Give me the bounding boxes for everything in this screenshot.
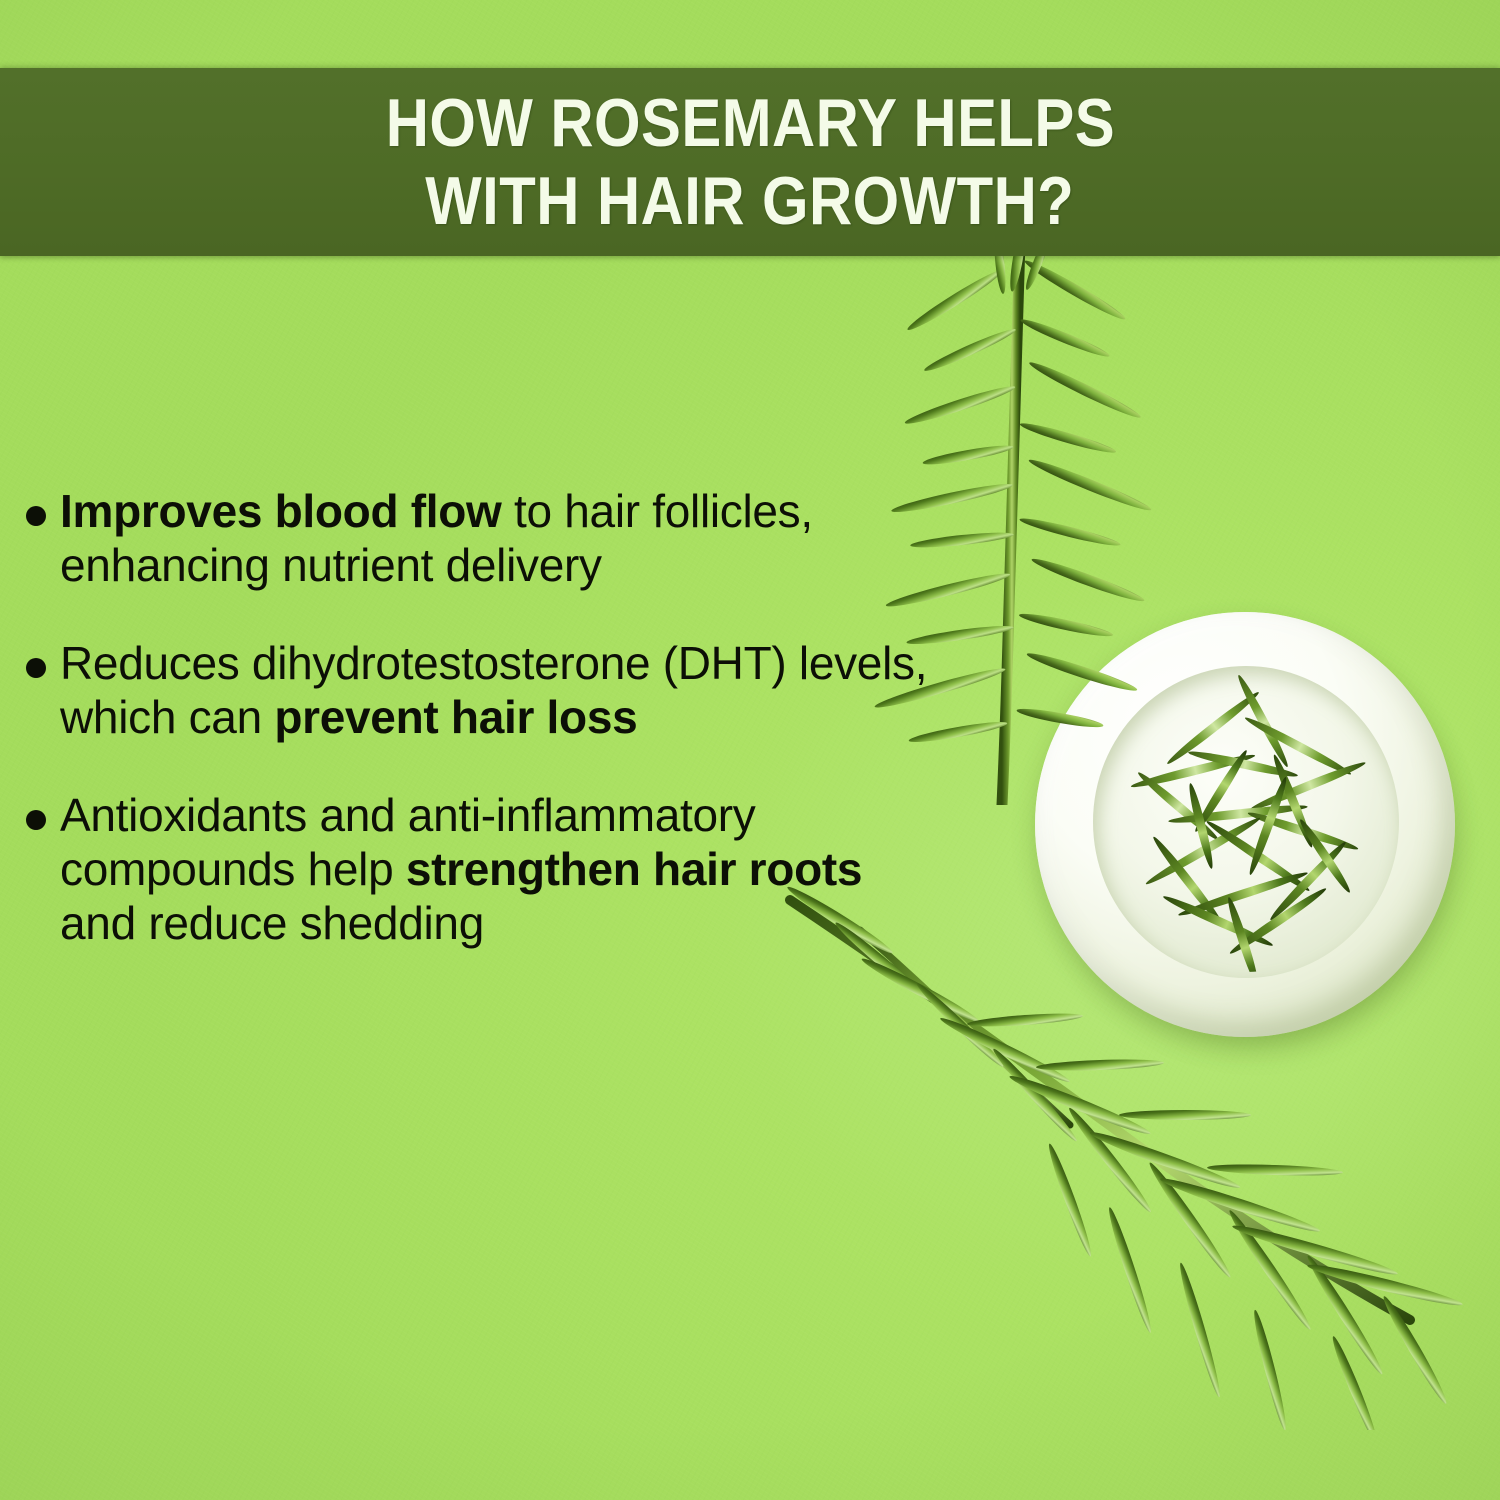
benefit-text-blood-flow: Improves blood flow to hair follicles, e… <box>60 484 940 592</box>
page-title-line-1: HOW ROSEMARY HELPS <box>385 84 1114 162</box>
benefit-text-dht-levels: Reduces dihydrotestosterone (DHT) levels… <box>60 636 940 744</box>
bullet-dot-icon <box>26 658 46 678</box>
bullet-dot-icon <box>26 506 46 526</box>
benefits-list: Improves blood flow to hair follicles, e… <box>26 484 976 994</box>
title-banner: HOW ROSEMARY HELPS WITH HAIR GROWTH? <box>0 68 1500 256</box>
benefit-text-antioxidants: Antioxidants and anti-inflammatory compo… <box>60 788 940 950</box>
list-item: Improves blood flow to hair follicles, e… <box>26 484 976 592</box>
list-item: Reduces dihydrotestosterone (DHT) levels… <box>26 636 976 744</box>
infographic-poster: HOW ROSEMARY HELPS WITH HAIR GROWTH? Imp… <box>0 0 1500 1500</box>
page-title-line-2: WITH HAIR GROWTH? <box>425 162 1074 240</box>
list-item: Antioxidants and anti-inflammatory compo… <box>26 788 976 950</box>
bullet-dot-icon <box>26 810 46 830</box>
